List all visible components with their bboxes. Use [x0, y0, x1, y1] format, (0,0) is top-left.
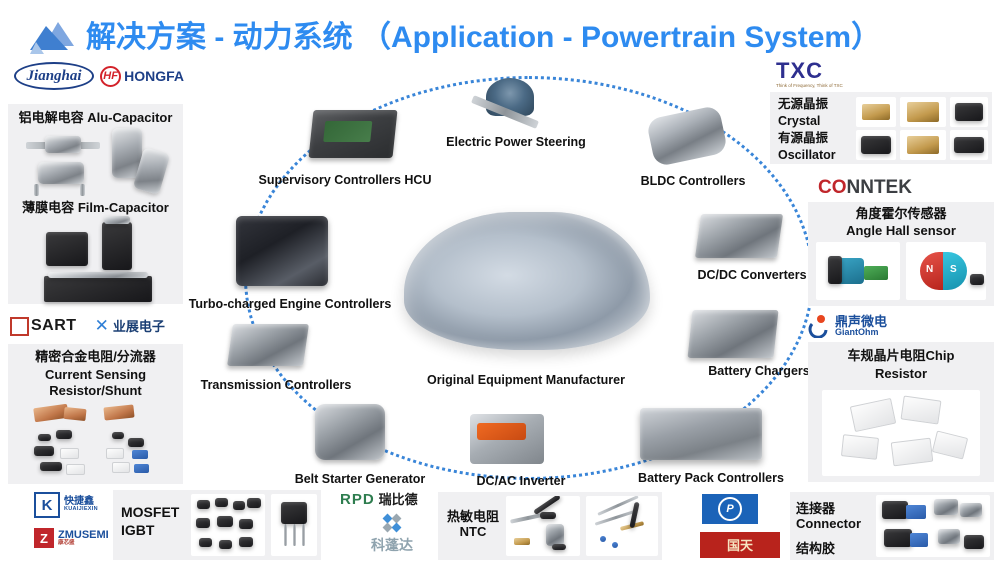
conntek-logo-text-b: NNTEK [847, 177, 912, 198]
txc-logo-text: TXC [776, 60, 866, 82]
film-capacitor-art-2 [102, 222, 132, 270]
connector-brand-logos: P 国天 [700, 492, 800, 558]
chip-resistor-art [112, 462, 130, 473]
capacitor-brand-logos: Jianghai HF HONGFA [14, 63, 184, 89]
yezhan-logo-text: 业展电子 [113, 320, 165, 333]
crystal-photo-1 [856, 97, 896, 127]
crystal-line-2: Crystal [778, 113, 850, 130]
zmusemi-logo-mark: Z [34, 528, 54, 548]
connector-label-en: Connector [796, 516, 861, 531]
chip-resistor-art [106, 448, 124, 459]
mountain-triangle-logo-icon [28, 20, 84, 54]
dcac-inverter-art [470, 414, 544, 464]
rpd-logo-text-cn: 瑞比德 [379, 493, 418, 506]
hall-sensor-title-en: Angle Hall sensor [808, 223, 994, 238]
shunt-resistor-art-2 [63, 407, 86, 421]
chip-resistor-panel: 车规晶片电阻Chip Resistor [808, 342, 994, 482]
label-transmission-controllers: Transmission Controllers [197, 378, 355, 392]
current-sensing-title-cn: 精密合金电阻/分流器 [8, 349, 183, 364]
crystal-panel-lines: 无源晶振 Crystal 有源晶振 Oscillator [778, 96, 850, 164]
magnet-pole-n: N [926, 264, 933, 275]
power-module-art [44, 276, 152, 302]
current-sensing-title-en-1: Current Sensing [8, 367, 183, 382]
snap-in-capacitor-art [38, 162, 84, 184]
page-title-cn: 解决方案 - 动力系统 [86, 21, 353, 54]
igbt-label: IGBT [121, 522, 154, 538]
page-title-en: （Application - Powertrain System） [361, 21, 881, 54]
film-capacitor-art [46, 232, 88, 266]
crystal-line-4: Oscillator [778, 147, 850, 164]
mosfet-label: MOSFET [121, 504, 179, 520]
kuaijiexin-logo-mark: K [34, 492, 60, 518]
label-dcac-inverter: DC/AC Inverter [470, 474, 572, 488]
ntc-panel: 热敏电阻 NTC [438, 492, 662, 560]
battery-charger-art [687, 310, 778, 358]
hall-sensor-panel: 角度霍尔传感器 Angle Hall sensor N S [808, 202, 994, 306]
sart-logo-text: SART [31, 318, 77, 334]
label-turbo-charged-engine-controllers: Turbo-charged Engine Controllers [182, 297, 398, 311]
capacitor-lead-art [80, 184, 85, 196]
giantohm-logo: 鼎声微电 GiantOhm [808, 312, 968, 340]
mosfet-photo-smd [191, 494, 265, 556]
capacitor-panel: 铝电解电容 Alu-Capacitor 薄膜电容 Film-Capacitor [8, 104, 183, 304]
crystal-line-1: 无源晶振 [778, 96, 850, 113]
mosfet-photo-through-hole [271, 494, 317, 556]
crystal-line-3: 有源晶振 [778, 130, 850, 147]
guotian-logo-text-cn: 国天 [727, 539, 753, 552]
chip-resistor-art [134, 464, 149, 473]
hongfa-logo-text: HONGFA [124, 69, 184, 83]
chip-resistor-art [34, 446, 54, 456]
ntc-photo-probes [506, 496, 580, 556]
rpd-logo: RPD 瑞比德 [340, 492, 444, 507]
kuaijiexin-logo-text-en: KUAIJIEXIN [64, 507, 98, 513]
hall-sensor-photo-magnet: N S [906, 242, 986, 300]
connector-panel: 连接器 Connector 结构胶 [790, 492, 994, 560]
adhesive-label-cn: 结构胶 [796, 538, 835, 557]
label-original-equipment-manufacturer: Original Equipment Manufacturer [420, 373, 632, 387]
connector-photo [876, 495, 990, 557]
film-capacitor-tab-art [104, 216, 130, 224]
txc-logo-tagline: Think of Frequency, Think of TXC [776, 83, 866, 88]
jianghai-logo: Jianghai [14, 62, 94, 90]
battery-pack-art [640, 408, 762, 460]
ntc-label-en: NTC [444, 524, 502, 539]
chip-resistor-art [38, 434, 51, 441]
resistor-panel: 精密合金电阻/分流器 Current Sensing Resistor/Shun… [8, 344, 183, 484]
alu-capacitor-title: 铝电解电容 Alu-Capacitor [8, 110, 183, 125]
yezhan-logo: ✕ 业展电子 [95, 316, 165, 336]
crystal-photo-2 [900, 97, 946, 127]
chip-resistor-title-en: Resistor [808, 366, 994, 381]
film-capacitor-title: 薄膜电容 Film-Capacitor [8, 200, 183, 215]
page-title: 解决方案 - 动力系统 （Application - Powertrain Sy… [86, 12, 881, 56]
ntc-photo-sensors [586, 496, 658, 556]
ntc-brand-logos: RPD 瑞比德 科蓬达 [340, 492, 444, 558]
current-sensing-title-en-2: Resistor/Shunt [8, 383, 183, 398]
power-module-terminals-art [48, 272, 148, 278]
chip-resistor-art [128, 438, 144, 447]
crystal-panel: 无源晶振 Crystal 有源晶振 Oscillator [770, 92, 992, 164]
dcdc-converter-art [695, 214, 783, 258]
magnet-pole-s: S [950, 264, 957, 275]
label-battery-chargers: Battery Chargers [700, 364, 818, 378]
label-electric-power-steering: Electric Power Steering [440, 135, 592, 149]
conntek-logo-text-a: CO [818, 177, 847, 198]
turbo-engine-art [236, 216, 328, 286]
txc-logo: TXC Think of Frequency, Think of TXC [776, 60, 866, 88]
axial-capacitor-body-art [45, 136, 81, 153]
slide-header: 解决方案 - 动力系统 （Application - Powertrain Sy… [0, 4, 1000, 60]
yongguan-logo-mark: P [718, 497, 742, 521]
yezhan-logo-mark: ✕ [95, 316, 109, 336]
hall-sensor-title-cn: 角度霍尔传感器 [808, 206, 994, 221]
hcu-ecu-art [308, 110, 397, 158]
label-dcdc-converters: DC/DC Converters [690, 268, 814, 282]
giantohm-logo-text-en: GiantOhm [835, 328, 887, 337]
mosfet-panel: MOSFET IGBT [113, 490, 321, 560]
sart-logo: SART [10, 317, 77, 336]
chip-resistor-art [132, 450, 148, 459]
belt-starter-generator-art [315, 404, 385, 460]
chip-resistor-art [60, 448, 79, 459]
chip-resistor-art [66, 464, 85, 475]
chip-resistor-title-cn: 车规晶片电阻Chip [808, 348, 994, 363]
hall-sensor-photo-motor [816, 242, 900, 300]
rpd-logo-text-en: RPD [340, 492, 375, 507]
capacitor-lead-art [34, 184, 39, 196]
conntek-logo: CONNTEK [818, 178, 968, 198]
kepengda-logo-mark [372, 511, 412, 535]
guotian-logo: 国天 [700, 532, 780, 558]
label-supervisory-controllers-hcu: Supervisory Controllers HCU [255, 173, 435, 187]
sart-logo-mark [10, 317, 29, 336]
transmission-ecu-art [227, 324, 309, 366]
hongfa-logo-mark: HF [100, 66, 121, 87]
connector-label-cn: 连接器 [796, 498, 835, 517]
ntc-label-cn: 热敏电阻 [444, 506, 502, 525]
yongguan-logo: P [700, 492, 760, 526]
resistor-brand-logos: SART ✕ 业展电子 [10, 315, 185, 337]
slide-canvas: 解决方案 - 动力系统 （Application - Powertrain Sy… [0, 0, 1000, 562]
jianghai-logo-text: Jianghai [27, 68, 82, 85]
crystal-photo-6 [950, 130, 988, 160]
crystal-photo-4 [856, 130, 896, 160]
label-battery-pack-controllers: Battery Pack Controllers [628, 471, 794, 485]
oem-vehicle-art [404, 212, 650, 350]
kepengda-logo: 科蓬达 [340, 511, 444, 552]
giantohm-logo-mark [808, 314, 830, 338]
zmusemi-logo-text-cn: 康芯盛 [58, 541, 109, 547]
crystal-photo-5 [900, 130, 946, 160]
chip-resistor-art [112, 432, 124, 439]
chip-resistor-photo [822, 390, 980, 476]
crystal-photo-3 [950, 97, 988, 127]
kepengda-logo-text-cn: 科蓬达 [340, 538, 444, 552]
shunt-resistor-art-3 [103, 404, 134, 420]
chip-resistor-art [56, 430, 72, 439]
chip-resistor-art [40, 462, 62, 471]
label-belt-starter-generator: Belt Starter Generator [290, 472, 430, 486]
label-bldc-controllers: BLDC Controllers [633, 174, 753, 188]
hongfa-logo: HF HONGFA [100, 66, 184, 87]
